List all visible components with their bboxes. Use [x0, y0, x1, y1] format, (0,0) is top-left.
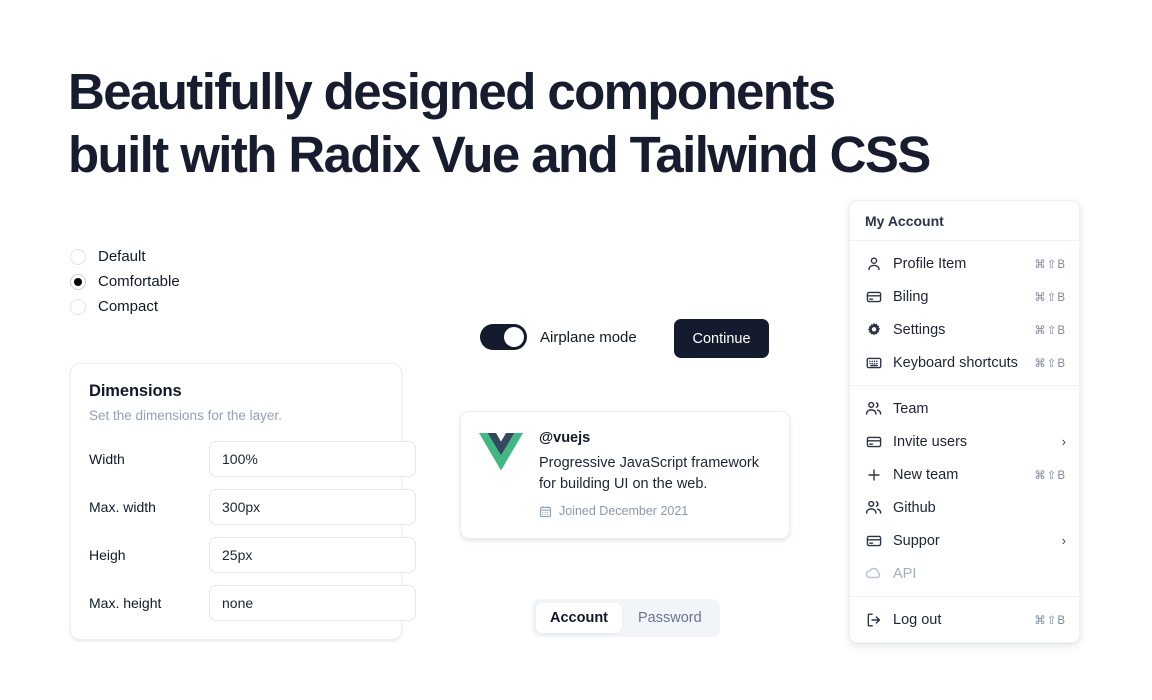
menu-item-label: Keyboard shortcuts [893, 355, 1023, 371]
chevron-right-icon: › [1062, 533, 1066, 548]
menu-item-shortcut: ⌘⇧B [1034, 290, 1066, 304]
calendar-icon [539, 505, 552, 518]
menu-item-suppor[interactable]: Suppor› [850, 524, 1079, 557]
menu-item-shortcut: ⌘⇧B [1034, 323, 1066, 337]
dimension-field-input[interactable] [209, 537, 416, 573]
settings-tabs: AccountPassword [532, 599, 720, 637]
menu-group: TeamInvite users›New team⌘⇧BGithubSuppor… [850, 386, 1079, 596]
credit-card-icon [865, 532, 882, 549]
radio-option-label: Compact [98, 299, 158, 315]
chevron-right-icon: › [1062, 434, 1066, 449]
cloud-icon [865, 565, 882, 582]
page-title-line-2: built with Radix Vue and Tailwind CSS [68, 123, 1028, 186]
menu-item-profile-item[interactable]: Profile Item⌘⇧B [850, 247, 1079, 280]
dimension-field-row: Heigh [89, 537, 385, 573]
dimensions-card: Dimensions Set the dimensions for the la… [70, 363, 402, 640]
radio-option-label: Default [98, 249, 146, 265]
dimension-field-row: Max. height [89, 585, 385, 621]
page-title-line-1: Beautifully designed components [68, 60, 1028, 123]
menu-item-label: Github [893, 500, 1066, 516]
tab-password[interactable]: Password [624, 603, 716, 633]
dimension-field-input[interactable] [209, 489, 416, 525]
menu-item-label: Suppor [893, 533, 1051, 549]
menu-item-label: Invite users [893, 434, 1051, 450]
account-dropdown-menu: My Account Profile Item⌘⇧BBiling⌘⇧BSetti… [849, 200, 1080, 643]
dimension-field-row: Max. width [89, 489, 385, 525]
menu-group: Profile Item⌘⇧BBiling⌘⇧BSettings⌘⇧BKeybo… [850, 241, 1079, 385]
hover-card-handle: @vuejs [539, 430, 769, 446]
menu-item-label: API [893, 566, 1066, 582]
users-icon [865, 499, 882, 516]
hover-card-body: @vuejs Progressive JavaScript framework … [539, 430, 769, 518]
menu-label: My Account [850, 201, 1079, 240]
menu-item-label: Team [893, 401, 1066, 417]
menu-item-label: Log out [893, 612, 1023, 628]
dimension-field-label: Max. height [89, 595, 209, 611]
dimensions-field-list: WidthMax. widthHeighMax. height [89, 441, 385, 621]
menu-groups: Profile Item⌘⇧BBiling⌘⇧BSettings⌘⇧BKeybo… [850, 241, 1079, 642]
hover-card-joined-label: Joined December 2021 [559, 504, 688, 518]
radio-indicator [70, 249, 86, 265]
gear-icon [865, 321, 882, 338]
menu-item-keyboard-shortcuts[interactable]: Keyboard shortcuts⌘⇧B [850, 346, 1079, 379]
menu-item-label: Profile Item [893, 256, 1023, 272]
radio-option-compact[interactable]: Compact [70, 299, 180, 315]
dimension-field-row: Width [89, 441, 385, 477]
airplane-mode-label: Airplane mode [540, 329, 637, 346]
menu-item-shortcut: ⌘⇧B [1034, 257, 1066, 271]
menu-item-shortcut: ⌘⇧B [1034, 468, 1066, 482]
hover-card-joined-row: Joined December 2021 [539, 504, 769, 518]
dimension-field-label: Max. width [89, 499, 209, 515]
hover-card-description: Progressive JavaScript framework for bui… [539, 453, 769, 495]
menu-item-github[interactable]: Github [850, 491, 1079, 524]
menu-item-label: New team [893, 467, 1023, 483]
dimension-field-label: Heigh [89, 547, 209, 563]
logout-icon [865, 611, 882, 628]
credit-card-icon [865, 288, 882, 305]
menu-item-invite-users[interactable]: Invite users› [850, 425, 1079, 458]
dimensions-card-description: Set the dimensions for the layer. [89, 408, 385, 423]
airplane-mode-switch[interactable] [480, 324, 527, 350]
credit-card-icon [865, 433, 882, 450]
dimension-field-label: Width [89, 451, 209, 467]
menu-item-log-out[interactable]: Log out⌘⇧B [850, 603, 1079, 636]
radio-option-label: Comfortable [98, 274, 180, 290]
menu-item-team[interactable]: Team [850, 392, 1079, 425]
menu-group: Log out⌘⇧B [850, 597, 1079, 642]
menu-item-shortcut: ⌘⇧B [1034, 356, 1066, 370]
dimension-field-input[interactable] [209, 585, 416, 621]
radio-option-comfortable[interactable]: Comfortable [70, 274, 180, 290]
menu-item-new-team[interactable]: New team⌘⇧B [850, 458, 1079, 491]
vue-logo-icon [479, 433, 523, 473]
plus-icon [865, 466, 882, 483]
keyboard-icon [865, 354, 882, 371]
vuejs-hover-card: @vuejs Progressive JavaScript framework … [460, 411, 790, 539]
menu-item-biling[interactable]: Biling⌘⇧B [850, 280, 1079, 313]
user-icon [865, 255, 882, 272]
continue-button[interactable]: Continue [674, 319, 769, 358]
dimension-field-input[interactable] [209, 441, 416, 477]
menu-item-shortcut: ⌘⇧B [1034, 613, 1066, 627]
airplane-mode-row: Airplane mode [480, 324, 637, 350]
users-icon [865, 400, 882, 417]
page-root: Beautifully designed components built wi… [0, 0, 1152, 700]
menu-item-settings[interactable]: Settings⌘⇧B [850, 313, 1079, 346]
dimensions-card-title: Dimensions [89, 382, 385, 401]
density-radio-group: DefaultComfortableCompact [70, 249, 180, 315]
radio-indicator [70, 299, 86, 315]
tab-account[interactable]: Account [536, 603, 622, 633]
menu-item-api: API [850, 557, 1079, 590]
menu-item-label: Biling [893, 289, 1023, 305]
radio-option-default[interactable]: Default [70, 249, 180, 265]
menu-item-label: Settings [893, 322, 1023, 338]
radio-indicator [70, 274, 86, 290]
switch-knob [504, 327, 524, 347]
page-title: Beautifully designed components built wi… [68, 60, 1028, 186]
